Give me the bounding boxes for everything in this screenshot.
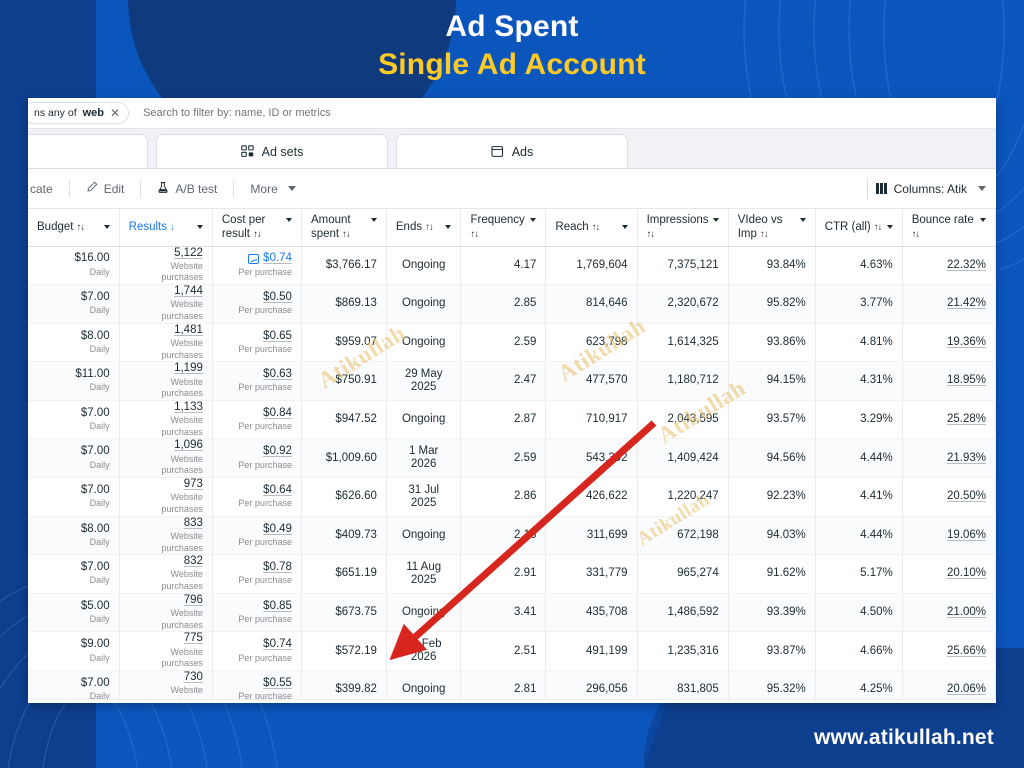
- tab-ads[interactable]: Ads: [396, 134, 628, 168]
- sort-icon[interactable]: ↑↓: [253, 229, 261, 240]
- cell-cost-per-result[interactable]: $0.74Per purchase: [212, 246, 301, 285]
- toolbar-divider-1: [69, 180, 70, 198]
- column-header-label: VIdeo vs Imp ↑↓: [738, 213, 796, 241]
- cell-bounce-rate[interactable]: 20.50%: [902, 478, 995, 517]
- chevron-down-icon[interactable]: [197, 225, 203, 229]
- cell-value[interactable]: 5,122: [129, 247, 203, 260]
- cell-value: 2,320,672: [647, 297, 719, 310]
- sort-icon[interactable]: ↑↓: [912, 229, 920, 240]
- cell-value: 1 Mar 2026: [396, 445, 452, 471]
- column-header-results[interactable]: Results ↓: [119, 209, 212, 246]
- cell-ctr: 4.31%: [815, 362, 902, 401]
- cell-budget: $8.00Daily: [28, 323, 119, 362]
- cell-results[interactable]: 1,199Website purchases: [119, 362, 212, 401]
- cell-value[interactable]: 1,744: [129, 285, 203, 298]
- cell-value[interactable]: 18.95%: [912, 374, 986, 387]
- ads-manager-screenshot: ns any of web ✕ Ad sets: [28, 98, 996, 703]
- cell-frequency: 2.47: [461, 362, 546, 401]
- cell-bounce-rate[interactable]: 25.66%: [902, 632, 995, 671]
- cell-frequency: 2.59: [461, 439, 546, 478]
- chevron-down-icon[interactable]: [887, 225, 893, 229]
- cell-bounce-rate[interactable]: 21.93%: [902, 439, 995, 478]
- cell-sublabel: Per purchase: [222, 460, 292, 472]
- chevron-down-icon[interactable]: [713, 218, 719, 222]
- cell-value: Ongoing: [396, 297, 452, 310]
- cell-bounce-rate[interactable]: 20.10%: [902, 555, 995, 594]
- cell-value: Ongoing: [396, 413, 452, 426]
- cell-value: $7.00: [37, 677, 110, 690]
- tab-ads-label: Ads: [512, 145, 534, 159]
- cell-frequency: 2.85: [461, 285, 546, 324]
- cell-value: 3.41: [470, 606, 536, 619]
- cell-value: Ongoing: [396, 336, 452, 349]
- sort-icon[interactable]: ↑↓: [470, 229, 478, 240]
- table-header: Budget ↑↓Results ↓Cost per result ↑↓Amou…: [28, 209, 996, 246]
- cell-value: 2.87: [470, 413, 536, 426]
- cell-value[interactable]: 22.32%: [912, 259, 986, 272]
- cell-value: 623,798: [555, 336, 627, 349]
- cell-value: 543,392: [555, 452, 627, 465]
- cell-frequency: 2.91: [461, 555, 546, 594]
- sort-icon[interactable]: ↑↓: [592, 222, 600, 233]
- chevron-down-icon[interactable]: [800, 218, 806, 222]
- cell-value: 710,917: [555, 413, 627, 426]
- cell-value: $572.19: [311, 645, 377, 658]
- cell-value: 2.81: [470, 683, 536, 696]
- cell-cost-per-result[interactable]: $0.78Per purchase: [212, 555, 301, 594]
- column-header-label: Results ↓: [129, 220, 174, 234]
- column-header-label: Frequency ↑↓: [470, 213, 526, 241]
- cell-value: Ongoing: [396, 259, 452, 272]
- cell-impressions: 1,486,592: [637, 593, 728, 632]
- metrics-table-container[interactable]: Budget ↑↓Results ↓Cost per result ↑↓Amou…: [28, 209, 996, 703]
- filter-pill[interactable]: ns any of web ✕: [28, 102, 129, 124]
- cell-value: 296,056: [555, 683, 627, 696]
- cell-value: 491,199: [555, 645, 627, 658]
- cell-budget: $7.00Daily: [28, 285, 119, 324]
- column-header-reach[interactable]: Reach ↑↓: [546, 209, 637, 246]
- more-button[interactable]: More: [240, 178, 305, 200]
- cell-frequency: 2.16: [461, 516, 546, 555]
- cell-value: 11 Aug 2025: [396, 561, 452, 587]
- cell-value[interactable]: 20.10%: [912, 567, 986, 580]
- column-header-budget[interactable]: Budget ↑↓: [28, 209, 119, 246]
- cell-sublabel: Per purchase: [222, 537, 292, 549]
- cell-value: $7.00: [37, 561, 110, 574]
- cell-value[interactable]: 20.50%: [912, 490, 986, 503]
- cell-cost-per-result[interactable]: $0.74Per purchase: [212, 632, 301, 671]
- cell-reach: 331,779: [546, 555, 637, 594]
- cell-value: 28 Feb 2026: [396, 638, 452, 664]
- cell-cost-per-result[interactable]: $0.92Per purchase: [212, 439, 301, 478]
- cell-bounce-rate[interactable]: 22.32%: [902, 246, 995, 285]
- chevron-down-icon[interactable]: [104, 225, 110, 229]
- cell-value: 1,235,316: [647, 645, 719, 658]
- cell-cost-per-result[interactable]: $0.63Per purchase: [212, 362, 301, 401]
- edit-button[interactable]: Edit: [76, 177, 135, 200]
- cell-value[interactable]: $0.92: [222, 445, 292, 458]
- column-header-frequency[interactable]: Frequency ↑↓: [461, 209, 546, 246]
- cell-frequency: 2.51: [461, 632, 546, 671]
- cell-budget: $11.00Daily: [28, 362, 119, 401]
- cell-value: 3.77%: [825, 297, 893, 310]
- cell-value: 3.29%: [825, 413, 893, 426]
- cell-impressions: 1,180,712: [637, 362, 728, 401]
- cell-ends: 31 Jul 2025: [386, 478, 461, 517]
- cell-value: 2.91: [470, 567, 536, 580]
- sort-icon[interactable]: ↑↓: [425, 222, 433, 233]
- cell-amount-spent: $959.07: [301, 323, 386, 362]
- cell-value[interactable]: 21.42%: [912, 297, 986, 310]
- sort-icon[interactable]: ↑↓: [760, 229, 768, 240]
- cell-value: $9.00: [37, 638, 110, 651]
- cell-budget: $5.00Daily: [28, 593, 119, 632]
- cell-ends: 28 Feb 2026: [386, 632, 461, 671]
- footer-website-url: www.atikullah.net: [814, 726, 994, 750]
- cell-value: $7.00: [37, 407, 110, 420]
- cell-value: $869.13: [311, 297, 377, 310]
- cell-value: $959.07: [311, 336, 377, 349]
- cell-value[interactable]: $0.84: [222, 407, 292, 420]
- cell-value: 2.59: [470, 336, 536, 349]
- cell-value: 814,646: [555, 297, 627, 310]
- cell-results[interactable]: 833Website purchases: [119, 516, 212, 555]
- ab-test-button[interactable]: A/B test: [147, 177, 227, 201]
- cell-video-vs-imp: 94.15%: [728, 362, 815, 401]
- chevron-down-icon[interactable]: [622, 225, 628, 229]
- table-row[interactable]: $7.00Daily1,096Website purchases$0.92Per…: [28, 439, 996, 478]
- cell-value: 1,220,247: [647, 490, 719, 503]
- cell-sublabel: Per purchase: [222, 267, 292, 279]
- cell-sublabel: Website purchases: [129, 377, 203, 400]
- sort-icon[interactable]: ↑↓: [77, 222, 85, 233]
- cell-reach: 623,798: [546, 323, 637, 362]
- cell-results[interactable]: 1,133Website purchases: [119, 400, 212, 439]
- sparkline-icon: [248, 254, 259, 264]
- cell-sublabel: Per purchase: [222, 305, 292, 317]
- column-header-bounce-rate[interactable]: Bounce rate ↑↓: [902, 209, 995, 246]
- table-row[interactable]: $5.00Daily796Website purchases$0.85Per p…: [28, 593, 996, 632]
- cell-budget: $7.00Daily: [28, 400, 119, 439]
- cell-value: 2,043,595: [647, 413, 719, 426]
- cell-ctr: 4.81%: [815, 323, 902, 362]
- cell-value[interactable]: 796: [129, 594, 203, 607]
- cell-sublabel: Per purchase: [222, 498, 292, 510]
- cell-cost-per-result[interactable]: $0.65Per purchase: [212, 323, 301, 362]
- cell-impressions: 2,320,672: [637, 285, 728, 324]
- duplicate-button[interactable]: cate: [28, 178, 63, 200]
- chevron-down-icon[interactable]: [286, 218, 292, 222]
- toolbar-divider-2: [140, 180, 141, 198]
- cell-value[interactable]: $0.49: [222, 523, 292, 536]
- cell-bounce-rate[interactable]: 19.36%: [902, 323, 995, 362]
- cell-reach: 814,646: [546, 285, 637, 324]
- cell-value: 477,570: [555, 374, 627, 387]
- cell-value[interactable]: 730: [129, 671, 203, 684]
- cell-value: $651.19: [311, 567, 377, 580]
- cell-value[interactable]: 1,133: [129, 401, 203, 414]
- cell-value: 93.84%: [738, 259, 806, 272]
- cell-value: $399.82: [311, 683, 377, 696]
- cell-value[interactable]: 20.06%: [912, 683, 986, 696]
- sort-icon[interactable]: ↑↓: [647, 229, 655, 240]
- cell-cost-per-result[interactable]: $0.64Per purchase: [212, 478, 301, 517]
- cell-ends: Ongoing: [386, 246, 461, 285]
- cell-value[interactable]: 25.28%: [912, 413, 986, 426]
- cell-sublabel: Website purchases: [129, 608, 203, 631]
- cell-video-vs-imp: 93.57%: [728, 400, 815, 439]
- cell-value: 93.87%: [738, 645, 806, 658]
- sort-icon[interactable]: ↑↓: [342, 229, 350, 240]
- cell-value[interactable]: 1,096: [129, 439, 203, 452]
- cell-bounce-rate[interactable]: 19.06%: [902, 516, 995, 555]
- cell-value: 4.44%: [825, 452, 893, 465]
- cell-video-vs-imp: 94.56%: [728, 439, 815, 478]
- columns-icon: [876, 183, 887, 194]
- cell-results[interactable]: 796Website purchases: [119, 593, 212, 632]
- cell-reach: 543,392: [546, 439, 637, 478]
- close-icon[interactable]: ✕: [110, 107, 120, 119]
- column-header-label: Amount spent ↑↓: [311, 213, 367, 241]
- table-row[interactable]: $7.00Daily973Website purchases$0.64Per p…: [28, 478, 996, 517]
- cell-value: 91.62%: [738, 567, 806, 580]
- cell-amount-spent: $673.75: [301, 593, 386, 632]
- cell-value[interactable]: $0.85: [222, 600, 292, 613]
- cell-value: $7.00: [37, 291, 110, 304]
- cell-value: 93.39%: [738, 606, 806, 619]
- cell-reach: 477,570: [546, 362, 637, 401]
- cell-value[interactable]: $0.64: [222, 484, 292, 497]
- cell-value: 2.16: [470, 529, 536, 542]
- cell-bounce-rate[interactable]: 21.42%: [902, 285, 995, 324]
- cell-impressions: 1,409,424: [637, 439, 728, 478]
- cell-value[interactable]: 973: [129, 478, 203, 491]
- cell-value[interactable]: 832: [129, 555, 203, 568]
- chevron-down-icon[interactable]: [371, 218, 377, 222]
- cell-value[interactable]: 25.66%: [912, 645, 986, 658]
- cell-value[interactable]: $0.74: [263, 252, 292, 265]
- cell-value: 4.44%: [825, 529, 893, 542]
- cell-value: 965,274: [647, 567, 719, 580]
- cell-results[interactable]: 973Website purchases: [119, 478, 212, 517]
- cell-ends: Ongoing: [386, 593, 461, 632]
- cell-impressions: 672,198: [637, 516, 728, 555]
- cell-ctr: 4.50%: [815, 593, 902, 632]
- cell-amount-spent: $409.73: [301, 516, 386, 555]
- cell-amount-spent: $750.91: [301, 362, 386, 401]
- cell-value[interactable]: $0.63: [222, 368, 292, 381]
- cell-sublabel: Website purchases: [129, 299, 203, 322]
- cell-results[interactable]: 1,744Website purchases: [119, 285, 212, 324]
- cell-value[interactable]: 833: [129, 517, 203, 530]
- table-row[interactable]: $11.00Daily1,199Website purchases$0.63Pe…: [28, 362, 996, 401]
- slide-title-block: Ad Spent Single Ad Account: [0, 8, 1024, 83]
- table-row[interactable]: $8.00Daily833Website purchases$0.49Per p…: [28, 516, 996, 555]
- cell-sublabel: Per purchase: [222, 614, 292, 626]
- tab-ad-sets-label: Ad sets: [262, 145, 304, 159]
- cell-sublabel: Website purchases: [129, 647, 203, 670]
- cell-impressions: 965,274: [637, 555, 728, 594]
- cell-results[interactable]: 1,096Website purchases: [119, 439, 212, 478]
- table-row[interactable]: $7.00Daily1,133Website purchases$0.84Per…: [28, 400, 996, 439]
- cell-sublabel: Daily: [37, 267, 110, 279]
- cell-results[interactable]: 1,481Website purchases: [119, 323, 212, 362]
- sort-icon[interactable]: ↓: [170, 222, 174, 233]
- page-subtitle: Single Ad Account: [0, 46, 1024, 84]
- cell-video-vs-imp: 92.23%: [728, 478, 815, 517]
- cell-value: 672,198: [647, 529, 719, 542]
- search-input[interactable]: [143, 107, 996, 119]
- cell-value: 4.81%: [825, 336, 893, 349]
- cell-video-vs-imp: 93.86%: [728, 323, 815, 362]
- filter-pill-value: web: [83, 107, 104, 119]
- cell-value[interactable]: $0.50: [222, 291, 292, 304]
- cell-cost-per-result[interactable]: $0.50Per purchase: [212, 285, 301, 324]
- cell-cost-per-result[interactable]: $0.49Per purchase: [212, 516, 301, 555]
- cell-ctr: 4.44%: [815, 439, 902, 478]
- cell-value: 4.50%: [825, 606, 893, 619]
- column-header-ends[interactable]: Ends ↑↓: [386, 209, 461, 246]
- cell-value: 4.66%: [825, 645, 893, 658]
- cell-cost-per-result[interactable]: $0.84Per purchase: [212, 400, 301, 439]
- cell-sublabel: Website purchases: [129, 531, 203, 554]
- chevron-down-icon[interactable]: [445, 225, 451, 229]
- cell-amount-spent: $869.13: [301, 285, 386, 324]
- cell-sublabel: Per purchase: [222, 344, 292, 356]
- cell-results[interactable]: 5,122Website purchases: [119, 246, 212, 285]
- cell-value[interactable]: 19.06%: [912, 529, 986, 542]
- columns-button-label: Columns: Atik: [894, 182, 967, 196]
- cell-value: 1,180,712: [647, 374, 719, 387]
- filter-pill-lead: ns any of: [34, 107, 77, 119]
- cell-ends: Ongoing: [386, 285, 461, 324]
- tab-strip: Ad sets Ads: [28, 129, 996, 169]
- cell-value[interactable]: 19.36%: [912, 336, 986, 349]
- column-header-cost-per-result[interactable]: Cost per result ↑↓: [212, 209, 301, 246]
- cell-impressions: 7,375,121: [637, 246, 728, 285]
- tab-ad-sets[interactable]: Ad sets: [156, 134, 388, 168]
- cell-value[interactable]: $0.74: [222, 638, 292, 651]
- cell-amount-spent: $651.19: [301, 555, 386, 594]
- cell-sublabel: Daily: [37, 537, 110, 549]
- cell-value[interactable]: $0.55: [222, 677, 292, 690]
- column-header-video-vs-imp[interactable]: VIdeo vs Imp ↑↓: [728, 209, 815, 246]
- column-header-label: Reach ↑↓: [555, 220, 599, 234]
- cell-amount-spent: $3,766.17: [301, 246, 386, 285]
- chevron-down-icon[interactable]: [530, 218, 536, 222]
- cell-value: 1,486,592: [647, 606, 719, 619]
- pencil-icon: [86, 181, 98, 196]
- cell-value: 4.31%: [825, 374, 893, 387]
- column-header-amount-spent[interactable]: Amount spent ↑↓: [301, 209, 386, 246]
- cell-value: $626.60: [311, 490, 377, 503]
- cell-bounce-rate[interactable]: 18.95%: [902, 362, 995, 401]
- cell-value: $8.00: [37, 330, 110, 343]
- cell-budget: $16.00Daily: [28, 246, 119, 285]
- tab-campaigns-partial[interactable]: [28, 134, 148, 168]
- cell-results[interactable]: 775Website purchases: [119, 632, 212, 671]
- cell-ends: 11 Aug 2025: [386, 555, 461, 594]
- cell-value: 4.25%: [825, 683, 893, 696]
- cell-value[interactable]: 1,199: [129, 362, 203, 375]
- chevron-down-icon: [978, 186, 986, 191]
- cell-sublabel: Per purchase: [222, 653, 292, 665]
- column-header-ctr-all[interactable]: CTR (all) ↑↓: [815, 209, 902, 246]
- table-row[interactable]: $8.00Daily1,481Website purchases$0.65Per…: [28, 323, 996, 362]
- table-row[interactable]: $9.00Daily775Website purchases$0.74Per p…: [28, 632, 996, 671]
- cell-value: $7.00: [37, 484, 110, 497]
- cell-value: 4.63%: [825, 259, 893, 272]
- grid-icon: [241, 145, 254, 158]
- columns-button[interactable]: Columns: Atik: [867, 178, 994, 200]
- cell-value[interactable]: $0.78: [222, 561, 292, 574]
- cell-ctr: 5.17%: [815, 555, 902, 594]
- filter-bar: ns any of web ✕: [28, 98, 996, 129]
- cell-value[interactable]: 21.00%: [912, 606, 986, 619]
- duplicate-button-label: cate: [30, 182, 53, 196]
- cell-value: $16.00: [37, 252, 110, 265]
- table-header-row: Budget ↑↓Results ↓Cost per result ↑↓Amou…: [28, 209, 996, 246]
- cell-value: 93.86%: [738, 336, 806, 349]
- horizontal-scrollbar[interactable]: [28, 699, 996, 703]
- cell-sublabel: Website purchases: [129, 261, 203, 284]
- cell-value: $7.00: [37, 445, 110, 458]
- cell-ends: 29 May 2025: [386, 362, 461, 401]
- cell-budget: $7.00Daily: [28, 439, 119, 478]
- edit-button-label: Edit: [104, 182, 125, 196]
- cell-value: 1,614,325: [647, 336, 719, 349]
- chevron-down-icon[interactable]: [980, 218, 986, 222]
- cell-amount-spent: $1,009.60: [301, 439, 386, 478]
- cell-value[interactable]: 21.93%: [912, 452, 986, 465]
- cell-sublabel: Daily: [37, 460, 110, 472]
- cell-sublabel: Website purchases: [129, 569, 203, 592]
- cell-budget: $8.00Daily: [28, 516, 119, 555]
- table-row[interactable]: $7.00Daily1,744Website purchases$0.50Per…: [28, 285, 996, 324]
- cell-bounce-rate[interactable]: 21.00%: [902, 593, 995, 632]
- cell-value[interactable]: $0.65: [222, 330, 292, 343]
- cell-sublabel: Daily: [37, 653, 110, 665]
- table-row[interactable]: $7.00Daily832Website purchases$0.78Per p…: [28, 555, 996, 594]
- cell-value: 5.17%: [825, 567, 893, 580]
- sort-icon[interactable]: ↑↓: [874, 222, 882, 233]
- cell-value[interactable]: 1,481: [129, 324, 203, 337]
- cell-value: 4.17: [470, 259, 536, 272]
- table-row[interactable]: $16.00Daily5,122Website purchases$0.74Pe…: [28, 246, 996, 285]
- cell-sublabel: Per purchase: [222, 421, 292, 433]
- column-header-impressions[interactable]: Impressions ↑↓: [637, 209, 728, 246]
- cell-value: 426,622: [555, 490, 627, 503]
- cell-bounce-rate[interactable]: 25.28%: [902, 400, 995, 439]
- ab-test-button-label: A/B test: [175, 182, 217, 196]
- cell-reach: 311,699: [546, 516, 637, 555]
- cell-value: 94.56%: [738, 452, 806, 465]
- cell-value: 95.32%: [738, 683, 806, 696]
- cell-value: 31 Jul 2025: [396, 484, 452, 510]
- cell-results[interactable]: 832Website purchases: [119, 555, 212, 594]
- cell-amount-spent: $947.52: [301, 400, 386, 439]
- cell-budget: $7.00Daily: [28, 555, 119, 594]
- cell-amount-spent: $572.19: [301, 632, 386, 671]
- cell-cost-per-result[interactable]: $0.85Per purchase: [212, 593, 301, 632]
- cell-value: 2.59: [470, 452, 536, 465]
- cell-value[interactable]: 775: [129, 632, 203, 645]
- flask-icon: [157, 181, 169, 197]
- cell-value: 311,699: [555, 529, 627, 542]
- cell-value: 95.82%: [738, 297, 806, 310]
- cell-value: $409.73: [311, 529, 377, 542]
- cell-value: 29 May 2025: [396, 368, 452, 394]
